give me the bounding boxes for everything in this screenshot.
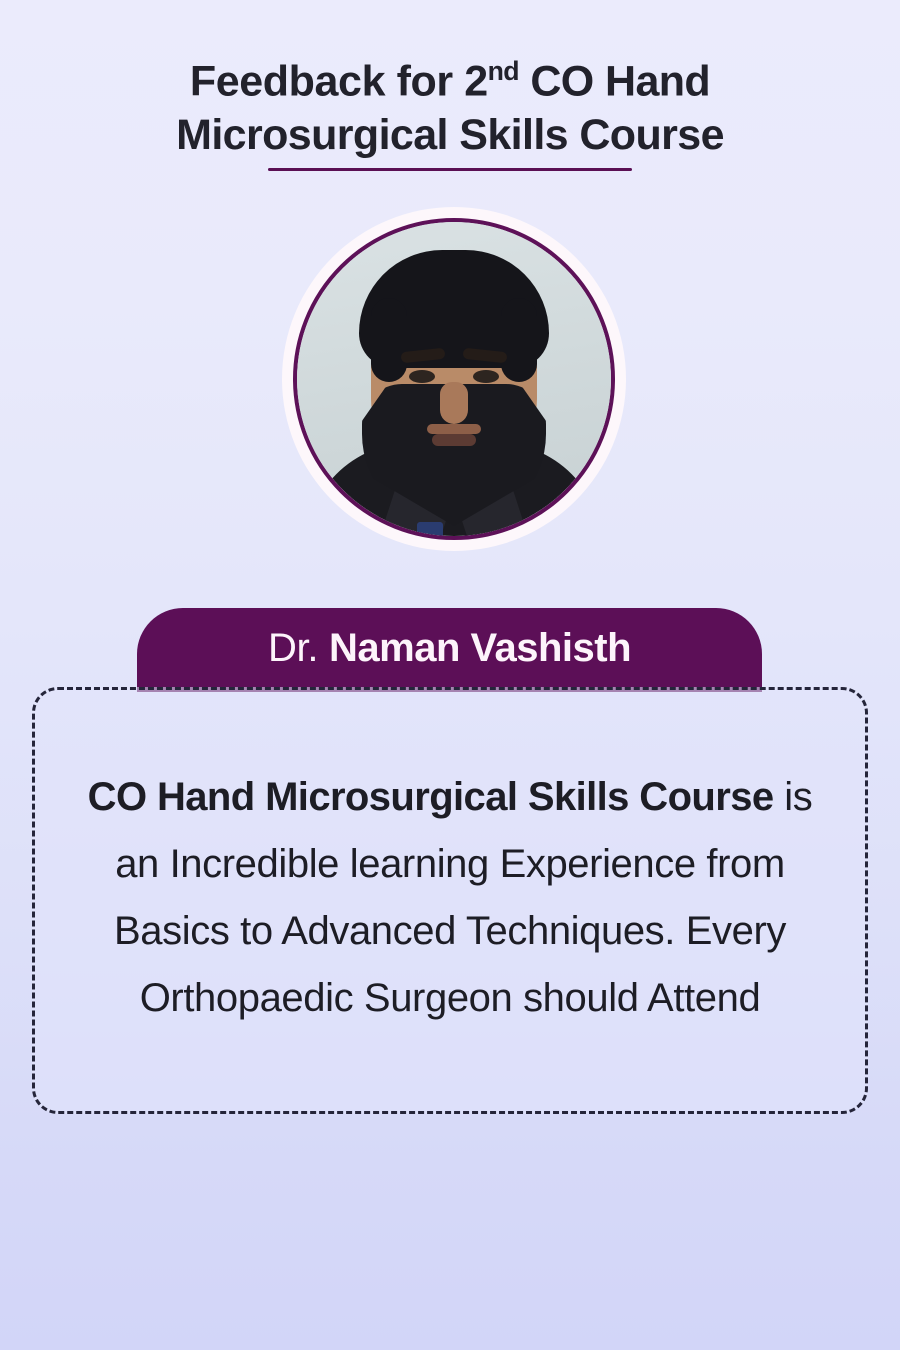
photo-eye-right — [473, 370, 499, 383]
title-prefix: Feedback for — [190, 57, 464, 105]
title-line-2: Microsurgical Skills Course — [0, 108, 900, 162]
avatar-photo — [297, 222, 611, 536]
photo-nose — [440, 382, 468, 424]
photo-eye-left — [409, 370, 435, 383]
quote-box: CO Hand Microsurgical Skills Course is a… — [32, 687, 868, 1114]
photo-sideburn-left — [371, 298, 407, 382]
name-badge-label: Dr. Naman Vashisth — [268, 626, 631, 674]
title-course-short: CO Hand — [519, 57, 710, 105]
title-line-1: Feedback for 2nd CO Hand — [0, 44, 900, 108]
feedback-card: Feedback for 2nd CO Hand Microsurgical S… — [0, 0, 900, 1350]
title-ordinal-number: 2 — [464, 57, 487, 105]
photo-mouth — [432, 434, 476, 446]
title-ordinal-suffix: nd — [488, 56, 519, 86]
avatar — [282, 207, 626, 551]
quote-course-name: CO Hand Microsurgical Skills Course — [88, 775, 774, 819]
title-underline-rule — [268, 168, 632, 171]
name-badge: Dr. Naman Vashisth — [137, 608, 762, 692]
photo-sideburn-right — [501, 298, 537, 382]
quote-text: CO Hand Microsurgical Skills Course is a… — [63, 764, 837, 1032]
photo-shirt-badge — [417, 522, 443, 536]
page-title: Feedback for 2nd CO Hand Microsurgical S… — [0, 44, 900, 162]
avatar-ring — [293, 218, 615, 540]
name-person: Naman Vashisth — [329, 626, 631, 670]
name-prefix: Dr. — [268, 626, 329, 670]
photo-upper-lip — [427, 424, 481, 434]
